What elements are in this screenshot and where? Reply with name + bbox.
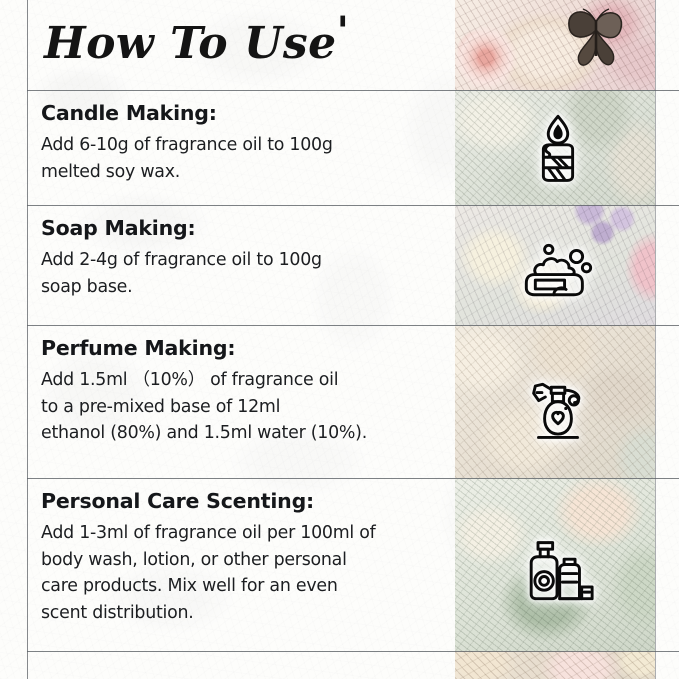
section-body: Add 1-3ml of fragrance oil per 100ml of … — [41, 520, 441, 626]
soap-bar-icon — [510, 223, 606, 309]
section-heading: Personal Care Scenting: — [41, 489, 441, 513]
framed-roses-illustration — [455, 651, 655, 679]
section-candle-making: Candle Making: Add 6-10g of fragrance oi… — [41, 101, 441, 185]
page-title-text: How To Use — [44, 18, 337, 69]
lotion-bottles-icon — [510, 524, 606, 610]
right-vertical-rule — [655, 0, 656, 679]
left-vertical-rule — [27, 0, 28, 679]
page-title: How To Use' — [44, 8, 349, 69]
section-perfume-making: Perfume Making: Add 1.5ml （10%） of fragr… — [41, 336, 441, 447]
section-soap-making: Soap Making: Add 2-4g of fragrance oil t… — [41, 216, 441, 300]
candle-icon — [510, 105, 606, 191]
perfume-bottle-icon — [510, 363, 606, 449]
section-heading: Candle Making: — [41, 101, 441, 125]
divider-rule-2 — [27, 205, 679, 206]
divider-rule-5 — [27, 651, 679, 652]
page-title-flourish: ' — [337, 8, 350, 55]
divider-rule-1 — [27, 90, 679, 91]
section-heading: Soap Making: — [41, 216, 441, 240]
how-to-use-infographic: How To Use' Candle Making: Add 6-10g of … — [0, 0, 679, 679]
section-body: Add 1.5ml （10%） of fragrance oil to a pr… — [41, 367, 441, 446]
section-personal-care-scenting: Personal Care Scenting: Add 1-3ml of fra… — [41, 489, 441, 626]
butterfly-illustration — [559, 6, 633, 76]
section-body: Add 2-4g of fragrance oil to 100g soap b… — [41, 247, 441, 300]
artwork-framed-roses — [455, 651, 655, 679]
divider-rule-3 — [27, 325, 679, 326]
artwork-roses-butterfly-tag — [455, 0, 655, 90]
section-heading: Perfume Making: — [41, 336, 441, 360]
divider-rule-4 — [27, 478, 679, 479]
section-body: Add 6-10g of fragrance oil to 100g melte… — [41, 132, 441, 185]
